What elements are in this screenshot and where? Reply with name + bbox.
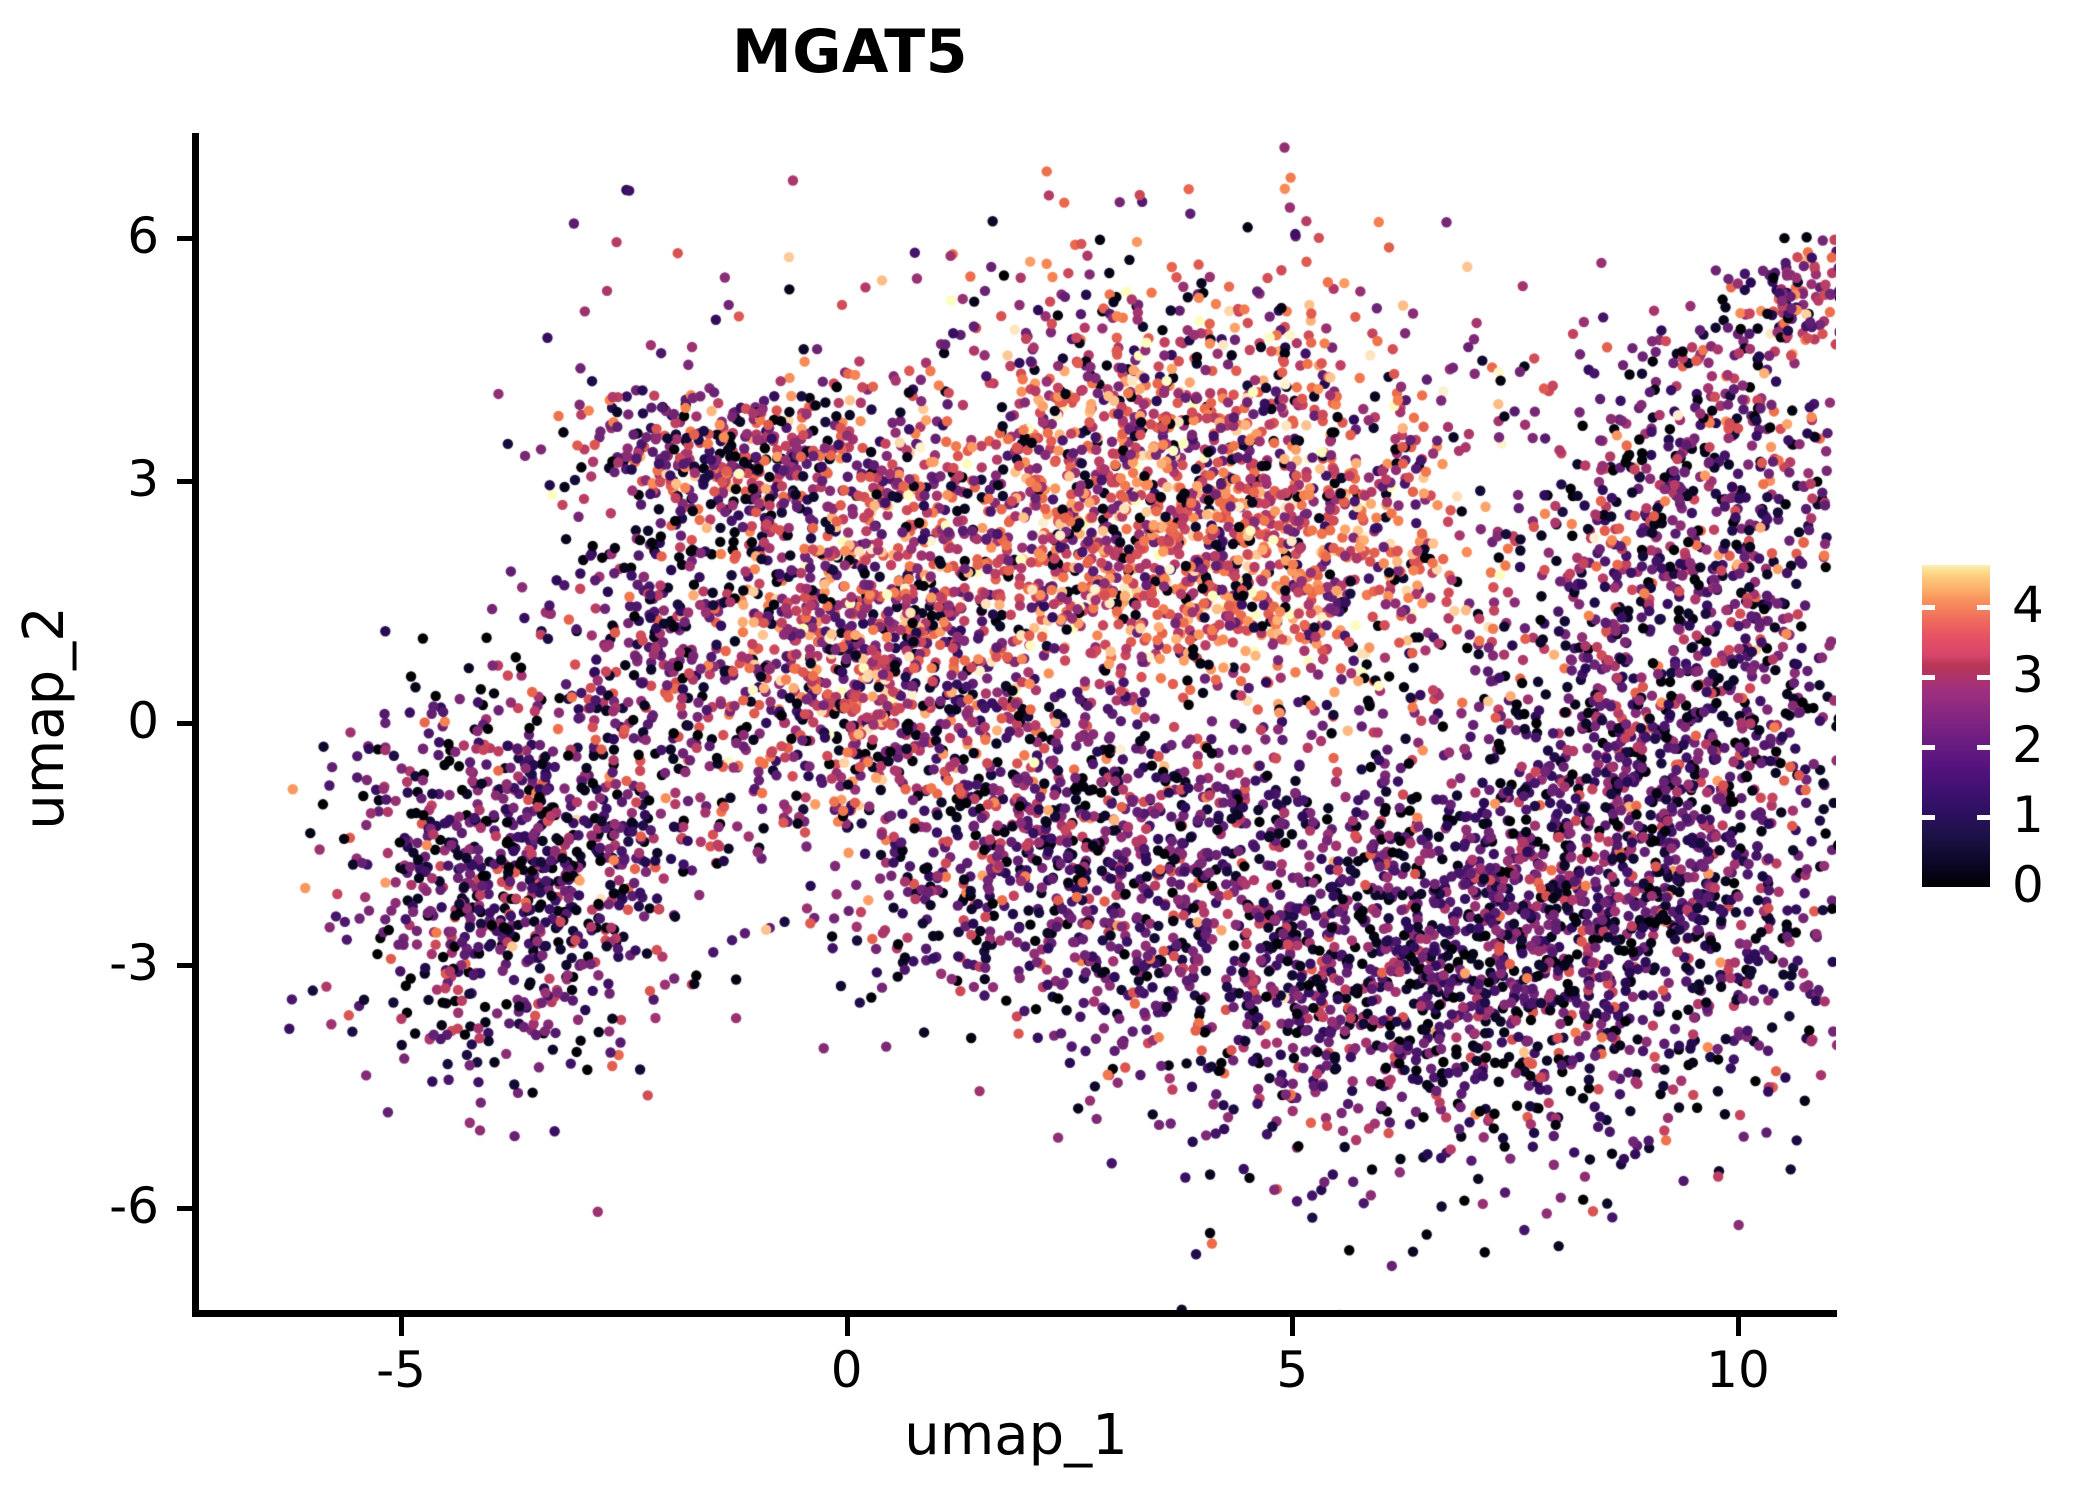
y-tick-mark xyxy=(177,1206,196,1211)
colorbar-tick-mark xyxy=(1922,745,1935,750)
umap-gene-expression-plot: MGAT5 630-3-6 -50510 umap_1 umap_2 43210 xyxy=(0,0,2100,1500)
x-axis-label: umap_1 xyxy=(196,1408,1836,1464)
colorbar-tick-label: 1 xyxy=(2012,790,2100,840)
scatter-points-canvas xyxy=(196,133,1836,1313)
colorbar: 43210 xyxy=(1922,565,2100,887)
colorbar-tick-label: 0 xyxy=(2012,860,2100,910)
colorbar-tick-mark xyxy=(1977,675,1990,680)
colorbar-tick-mark xyxy=(1977,745,1990,750)
colorbar-tick-label: 4 xyxy=(2012,580,2100,630)
x-tick-label: 0 xyxy=(767,1345,927,1395)
y-tick-mark xyxy=(177,479,196,484)
x-axis-spine xyxy=(192,1310,1837,1317)
y-tick-mark xyxy=(177,963,196,968)
x-tick-mark xyxy=(399,1317,404,1336)
page-title: MGAT5 xyxy=(0,22,1700,82)
plot-axes-area xyxy=(196,133,1836,1313)
colorbar-tick-mark xyxy=(1977,605,1990,610)
x-tick-mark xyxy=(1736,1317,1741,1336)
x-tick-mark xyxy=(1290,1317,1295,1336)
x-tick-label: 5 xyxy=(1212,1345,1372,1395)
y-tick-mark xyxy=(177,721,196,726)
y-tick-label: -6 xyxy=(19,1181,159,1231)
colorbar-tick-label: 3 xyxy=(2012,650,2100,700)
x-tick-mark xyxy=(845,1317,850,1336)
colorbar-tick-mark xyxy=(1922,675,1935,680)
colorbar-gradient xyxy=(1922,565,1990,887)
colorbar-tick-mark xyxy=(1922,815,1935,820)
x-tick-label: -5 xyxy=(321,1345,481,1395)
y-axis-label: umap_2 xyxy=(17,368,73,1068)
colorbar-tick-label: 2 xyxy=(2012,720,2100,770)
y-tick-mark xyxy=(177,236,196,241)
x-tick-label: 10 xyxy=(1658,1345,1818,1395)
colorbar-tick-mark xyxy=(1977,815,1990,820)
colorbar-tick-mark xyxy=(1922,605,1935,610)
y-tick-label: 6 xyxy=(19,211,159,261)
